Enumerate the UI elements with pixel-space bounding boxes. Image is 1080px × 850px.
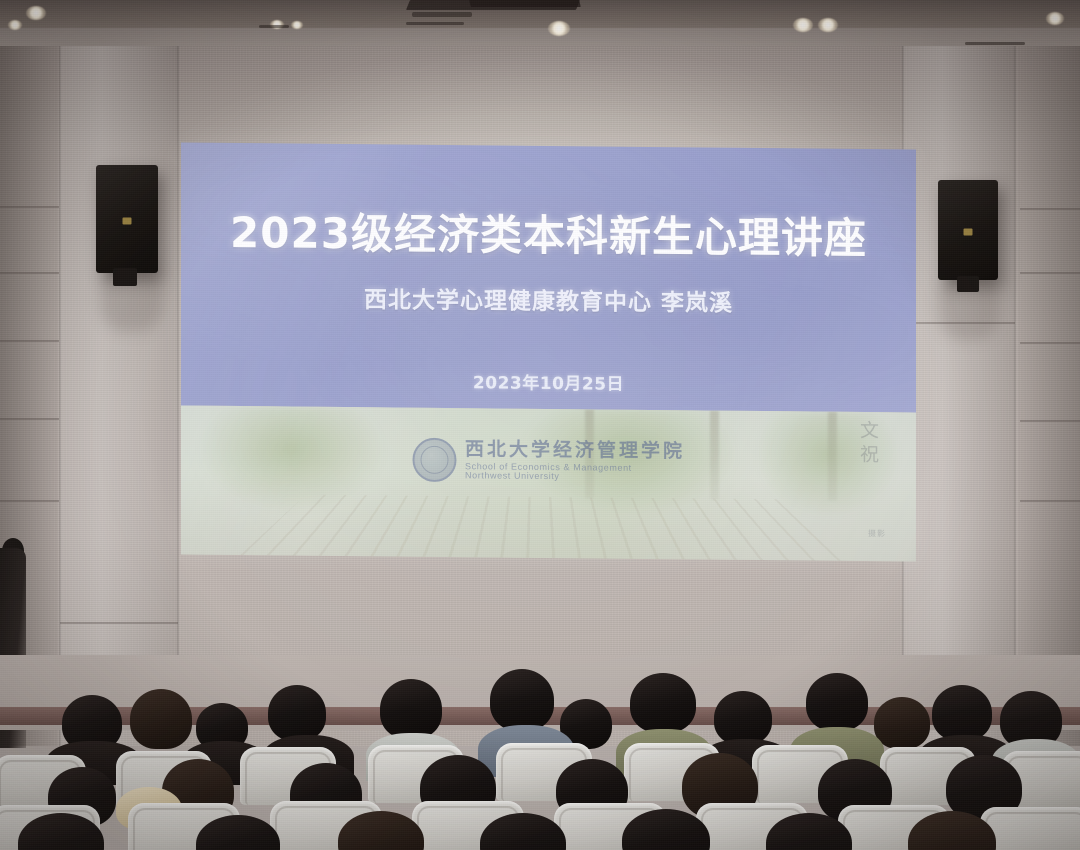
audience-head [932, 685, 992, 741]
wall-seam [1020, 420, 1080, 422]
wall-speaker-left [96, 165, 158, 273]
wall-right-shadow [1018, 46, 1080, 746]
wall-seam [0, 272, 59, 274]
slide-subtitle: 西北大学心理健康教育中心 李岚溪 [181, 278, 916, 319]
wall-seam [0, 340, 59, 342]
school-name-en2: Northwest University [465, 471, 685, 483]
slide-photo-band: 西北大学经济管理学院 School of Economics & Managem… [181, 405, 916, 561]
photo-tree-trunk [710, 411, 719, 500]
projected-slide: 2023级经济类本科新生心理讲座 西北大学心理健康教育中心 李岚溪 2023年1… [181, 142, 916, 561]
ceiling-light [26, 6, 46, 20]
ceiling-light [1046, 12, 1064, 25]
school-logo-text: 西北大学经济管理学院 School of Economics & Managem… [465, 440, 685, 483]
audience-head [714, 691, 772, 745]
ceiling-rail [965, 42, 1025, 45]
wall-seam [1020, 208, 1080, 210]
ceiling-light [8, 20, 22, 30]
wall-seam [0, 418, 59, 420]
wall-seam [0, 500, 59, 502]
wall-seam [1020, 272, 1080, 274]
photo-tree-trunk [828, 412, 837, 501]
ceiling-rail [412, 12, 472, 17]
ceiling-rail [259, 25, 289, 28]
school-logo: 西北大学经济管理学院 School of Economics & Managem… [412, 438, 685, 485]
ceiling-light [291, 21, 303, 29]
ceiling-light [793, 18, 813, 32]
speaker-badge-icon [964, 229, 973, 236]
wall-seam [1020, 342, 1080, 344]
ceiling-light [548, 21, 570, 36]
pilaster-edge-right2 [1014, 46, 1016, 746]
wall-speaker-right [938, 180, 998, 280]
school-seal-icon [412, 438, 456, 482]
ceiling-truss [469, 0, 581, 7]
slide-title: 2023级经济类本科新生心理讲座 [181, 198, 916, 266]
wall-seam [1020, 500, 1080, 502]
audience-area [0, 655, 1080, 850]
lecture-hall-photo: 2023级经济类本科新生心理讲座 西北大学心理健康教育中心 李岚溪 2023年1… [0, 0, 1080, 850]
audience-head [630, 673, 696, 733]
speaker-bracket-left [113, 268, 137, 286]
photo-watermark-vertical: 文祝 [842, 420, 882, 468]
audience-head [490, 669, 554, 731]
audience-head [874, 697, 930, 749]
audience-head [806, 673, 868, 731]
audience-head [268, 685, 326, 741]
wall-seam [0, 206, 59, 208]
ceiling-light [818, 18, 838, 32]
speaker-badge-icon [123, 218, 132, 225]
ceiling-rail [406, 22, 464, 25]
speaker-bracket-right [957, 276, 979, 292]
photo-boardwalk [240, 494, 857, 561]
school-name-cn: 西北大学经济管理学院 [465, 440, 685, 462]
pilaster-edge-left [59, 46, 61, 746]
photo-watermark-small: 摄影 [868, 528, 886, 539]
audience-head [130, 689, 192, 749]
wall-seam [60, 622, 178, 624]
audience-head [380, 679, 442, 739]
